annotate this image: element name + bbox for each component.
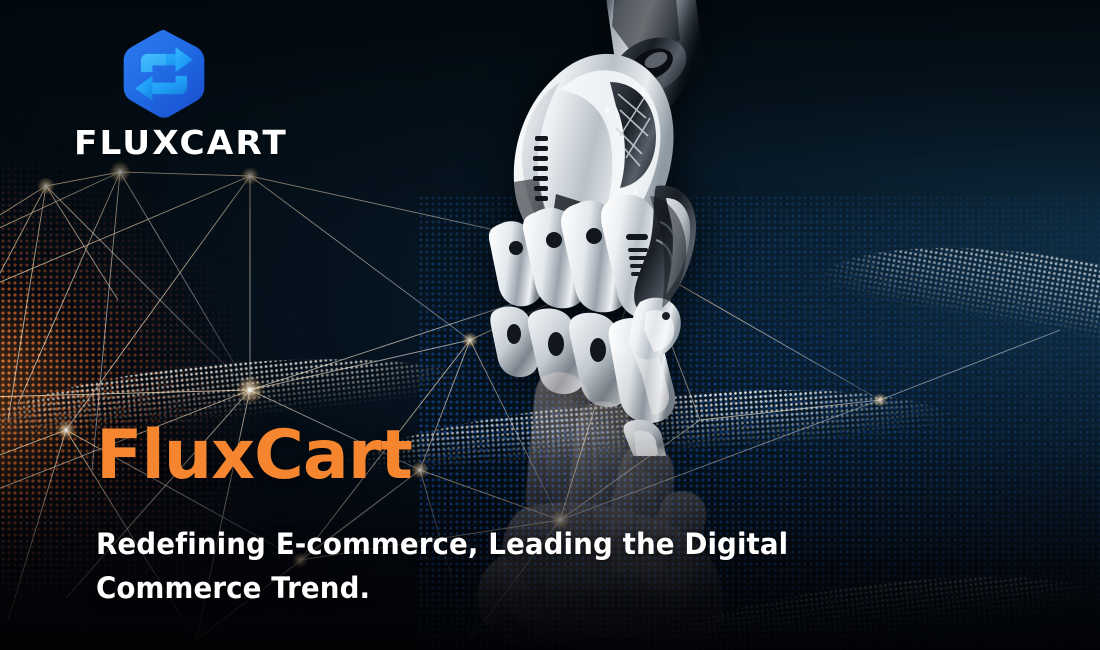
tagline-line-2: Commerce Trend. <box>96 566 841 610</box>
hexagon-exchange-arrows-icon <box>116 26 212 122</box>
brand-wordmark: FLUXCART <box>74 126 288 159</box>
blue-wave-crest-upper <box>810 215 1100 355</box>
tagline: Redefining E-commerce, Leading the Digit… <box>96 522 841 610</box>
brand-logo-block[interactable]: FLUXCART <box>74 26 280 159</box>
tagline-line-1: Redefining E-commerce, Leading the Digit… <box>96 522 841 566</box>
hero-banner: FLUXCART FluxCart Redefining E-commerce,… <box>0 0 1100 650</box>
page-title: FluxCart <box>96 422 412 490</box>
